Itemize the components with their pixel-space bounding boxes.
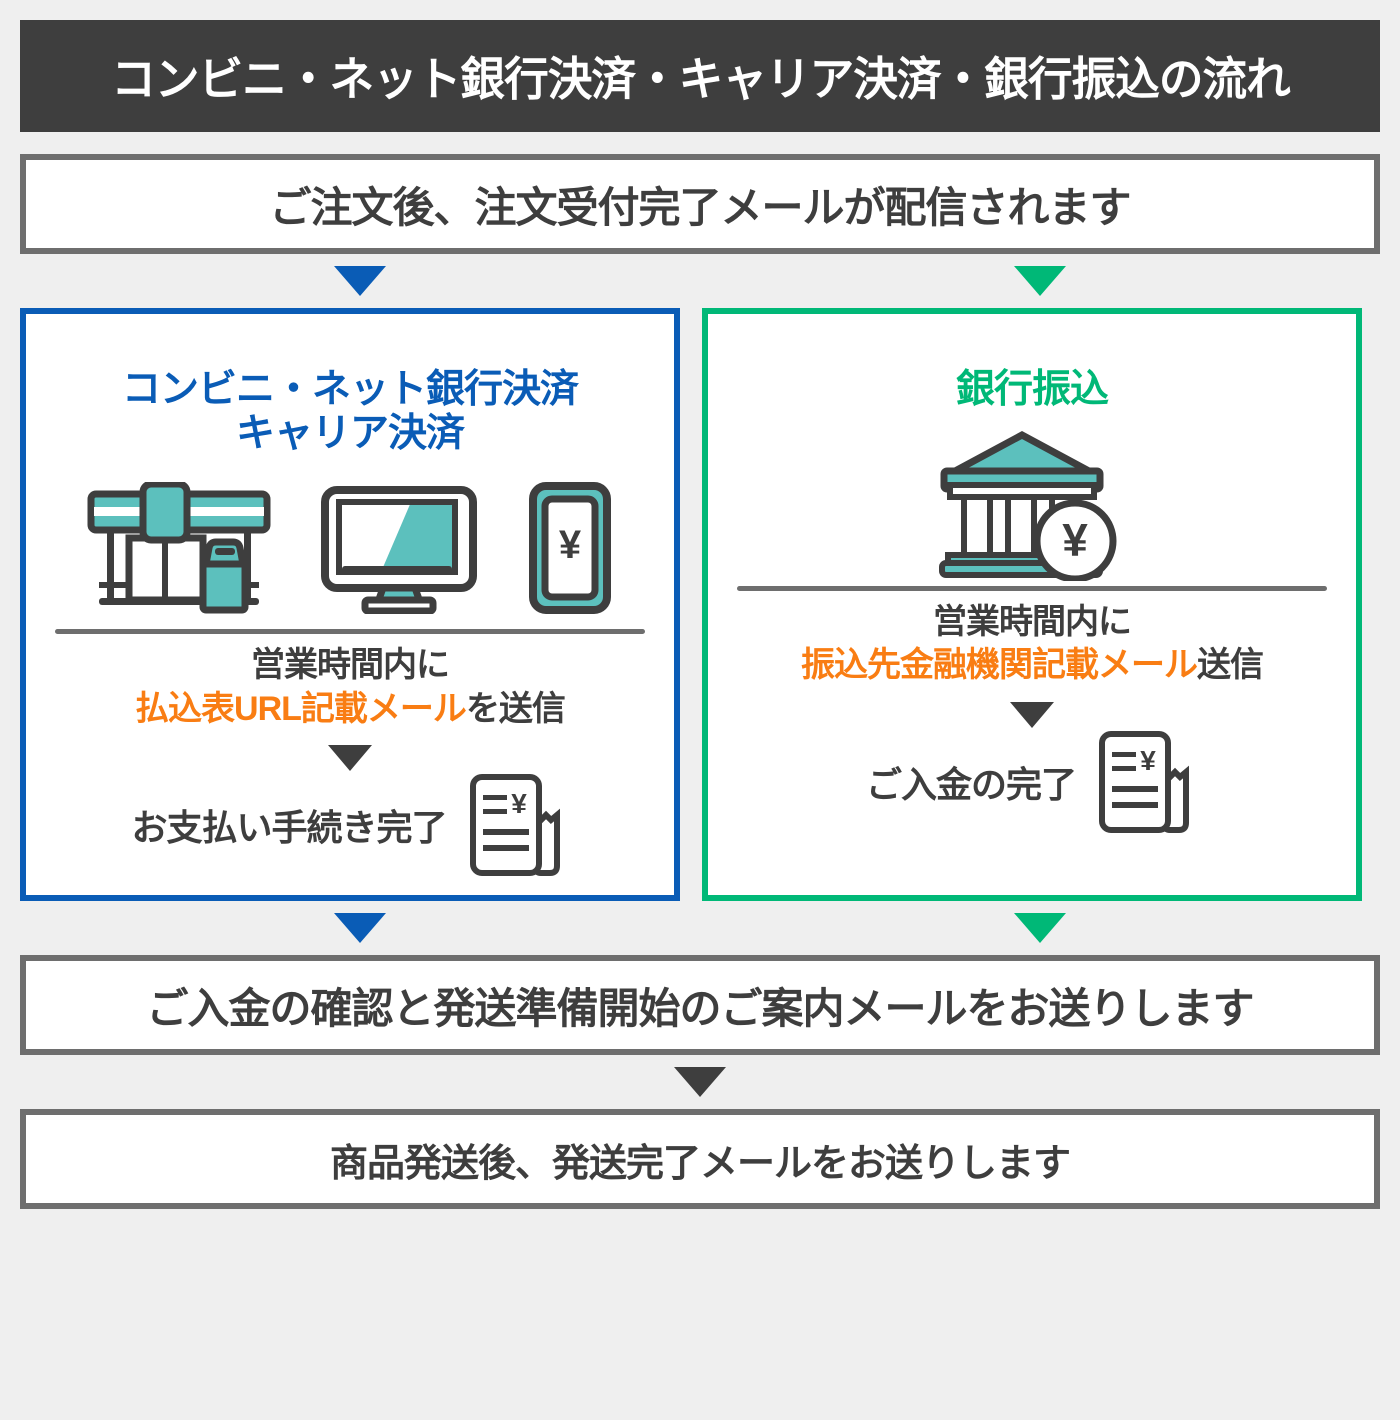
branch-arrow-right-slot — [700, 266, 1380, 296]
panel-left-title-line2: キャリア決済 — [122, 412, 578, 456]
down-arrow-blue-icon — [334, 266, 386, 296]
payment-method-panels: コンビニ・ネット銀行決済 キャリア決済 — [20, 308, 1380, 901]
panel-left-inner-arrow-slot — [328, 745, 372, 771]
down-arrow-green-merge-icon — [1014, 913, 1066, 943]
panel-left-done-row: お支払い手続き完了 ¥ — [131, 777, 568, 873]
desktop-monitor-icon — [319, 482, 479, 614]
panel-left-icon-row: ¥ — [85, 473, 615, 623]
panel-left-done-label: お支払い手続き完了 — [131, 799, 446, 851]
convenience-store-icon — [85, 482, 273, 614]
panel-bank-transfer: 銀行振込 ¥ — [702, 308, 1362, 901]
panel-left-divider — [55, 629, 645, 634]
down-arrow-green-inner-icon — [1010, 702, 1054, 728]
panel-left-title: コンビニ・ネット銀行決済 キャリア決済 — [122, 368, 578, 455]
panel-left-note-line2: 払込表URL記載メールを送信 — [135, 688, 565, 732]
svg-text:¥: ¥ — [559, 523, 582, 567]
smartphone-yen-icon: ¥ — [525, 482, 615, 614]
page-title: コンビニ・ネット銀行決済・キャリア決済・銀行振込の流れ — [111, 43, 1290, 109]
panel-right-inner-arrow-slot — [1010, 702, 1054, 728]
panel-right-done-row: ご入金の完了 ¥ — [866, 734, 1198, 830]
step-shipment-complete-mail-label: 商品発送後、発送完了メールをお送りします — [330, 1132, 1070, 1187]
panel-convenience-netbank-carrier: コンビニ・ネット銀行決済 キャリア決済 — [20, 308, 680, 901]
down-arrow-blue-inner-icon — [328, 745, 372, 771]
diagram-header: コンビニ・ネット銀行決済・キャリア決済・銀行振込の流れ — [20, 20, 1380, 132]
merge-arrow-left-slot — [20, 913, 700, 943]
step-order-confirmation-mail-label: ご注文後、注文受付完了メールが配信されます — [269, 174, 1130, 235]
panel-right-note-line2: 振込先金融機関記載メール送信 — [801, 644, 1263, 688]
receipt-yen-icon: ¥ — [461, 773, 569, 877]
branch-arrow-row — [20, 254, 1380, 308]
panel-right-done-label: ご入金の完了 — [866, 756, 1076, 808]
panel-left-note-line1: 営業時間内に — [135, 644, 565, 688]
panel-right-note-highlight: 振込先金融機関記載メール — [801, 646, 1197, 684]
panel-left-title-line1: コンビニ・ネット銀行決済 — [122, 368, 578, 411]
merge-arrow-row — [20, 901, 1380, 955]
panel-right-note-tail: 送信 — [1197, 646, 1263, 684]
payment-flow-diagram: コンビニ・ネット銀行決済・キャリア決済・銀行振込の流れ ご注文後、注文受付完了メ… — [0, 20, 1400, 1420]
svg-text:¥: ¥ — [511, 788, 527, 819]
step-payment-confirmed-mail-label: ご入金の確認と発送準備開始のご案内メールをお送りします — [146, 975, 1253, 1036]
merge-arrow-right-slot — [700, 913, 1380, 943]
final-arrow-row — [20, 1055, 1380, 1109]
receipt-yen-icon: ¥ — [1090, 730, 1198, 834]
step-order-confirmation-mail: ご注文後、注文受付完了メールが配信されます — [20, 154, 1380, 254]
panel-right-divider — [737, 586, 1327, 591]
panel-right-title: 銀行振込 — [956, 368, 1108, 412]
down-arrow-blue-merge-icon — [334, 913, 386, 943]
bank-yen-icon: ¥ — [934, 429, 1130, 581]
panel-right-note: 営業時間内に 振込先金融機関記載メール送信 — [801, 601, 1263, 688]
step-payment-confirmed-mail: ご入金の確認と発送準備開始のご案内メールをお送りします — [20, 955, 1380, 1055]
panel-left-note: 営業時間内に 払込表URL記載メールを送信 — [135, 644, 565, 731]
panel-left-note-tail: を送信 — [466, 690, 565, 728]
panel-left-note-highlight: 払込表URL記載メール — [135, 690, 466, 728]
panel-right-title-line1: 銀行振込 — [956, 368, 1108, 411]
down-arrow-gray-icon — [674, 1067, 726, 1097]
down-arrow-green-icon — [1014, 266, 1066, 296]
step-shipment-complete-mail: 商品発送後、発送完了メールをお送りします — [20, 1109, 1380, 1209]
panel-right-icon-row: ¥ — [934, 430, 1130, 580]
branch-arrow-left-slot — [20, 266, 700, 296]
panel-right-note-line1: 営業時間内に — [801, 601, 1263, 645]
svg-text:¥: ¥ — [1062, 514, 1088, 566]
svg-text:¥: ¥ — [1140, 745, 1156, 776]
